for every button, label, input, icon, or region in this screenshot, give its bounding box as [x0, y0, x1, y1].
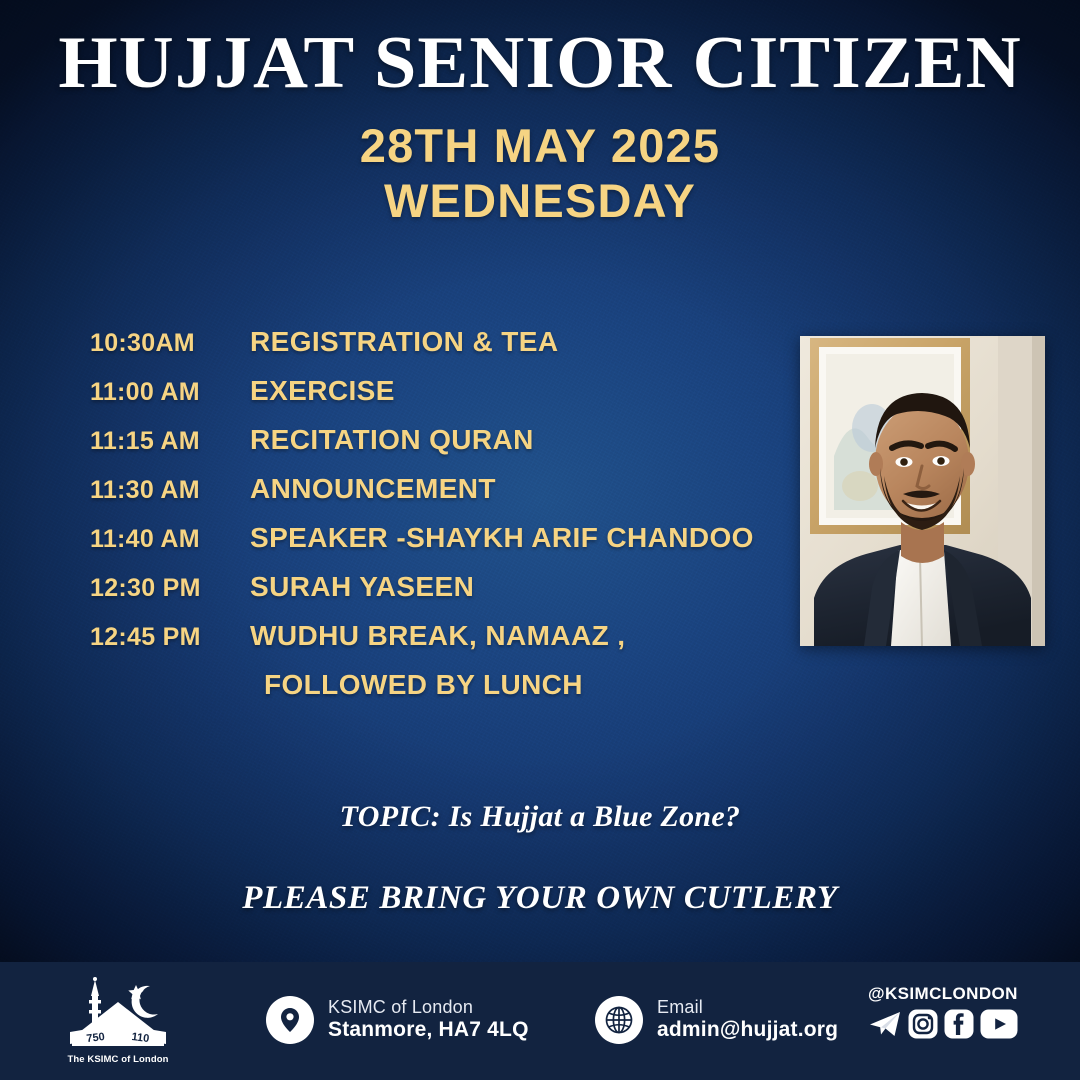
schedule-item: RECITATION QURAN: [250, 424, 534, 456]
facebook-icon[interactable]: [944, 1009, 974, 1039]
schedule-row: 11:00 AM EXERCISE: [90, 375, 820, 424]
ksimc-logo: 750 110 The KSIMC of London: [62, 974, 174, 1070]
logo-caption: The KSIMC of London: [67, 1054, 168, 1065]
poster-footer: 750 110 The KSIMC of London KSIMC of Lon…: [0, 962, 1080, 1080]
schedule-row: 11:30 AM ANNOUNCEMENT: [90, 473, 820, 522]
schedule-row: 10:30AM REGISTRATION & TEA: [90, 326, 820, 375]
event-date: 28TH MAY 2025: [0, 118, 1080, 173]
schedule-row: 11:40 AM SPEAKER -SHAYKH ARIF CHANDOO: [90, 522, 820, 571]
schedule-row: FOLLOWED BY LUNCH: [90, 669, 820, 718]
email-label: Email: [657, 997, 838, 1018]
schedule-item: ANNOUNCEMENT: [250, 473, 496, 505]
event-date-block: 28TH MAY 2025 WEDNESDAY: [0, 118, 1080, 229]
event-weekday: WEDNESDAY: [0, 173, 1080, 228]
schedule-time: 12:45 PM: [90, 623, 250, 652]
schedule-item: WUDHU BREAK, NAMAAZ ,: [250, 620, 625, 652]
schedule-time: 11:30 AM: [90, 476, 250, 505]
schedule-item: REGISTRATION & TEA: [250, 326, 558, 358]
schedule-item: SURAH YASEEN: [250, 571, 474, 603]
schedule-row: 12:45 PM WUDHU BREAK, NAMAAZ ,: [90, 620, 820, 669]
logo-banner-left: 750: [86, 1031, 106, 1045]
schedule-list: 10:30AM REGISTRATION & TEA 11:00 AM EXER…: [90, 326, 820, 718]
email-address[interactable]: admin@hujjat.org: [657, 1018, 838, 1043]
globe-icon: [595, 996, 643, 1044]
instagram-icon[interactable]: [908, 1009, 938, 1039]
schedule-time: 12:30 PM: [90, 574, 250, 603]
topic-line: TOPIC: Is Hujjat a Blue Zone?: [0, 800, 1080, 834]
schedule-time: 10:30AM: [90, 329, 250, 358]
location-line1: KSIMC of London: [328, 997, 529, 1018]
social-icon-row: [868, 1009, 1048, 1039]
logo-banner-right: 110: [131, 1031, 150, 1045]
schedule-time: 11:40 AM: [90, 525, 250, 554]
mosque-crescent-icon: 750 110: [66, 974, 170, 1052]
map-pin-icon: [266, 996, 314, 1044]
schedule-time: 11:15 AM: [90, 427, 250, 456]
schedule-item: SPEAKER -SHAYKH ARIF CHANDOO: [250, 522, 754, 554]
poster-title: HUJJAT SENIOR CITIZEN: [0, 26, 1080, 100]
location-line2: Stanmore, HA7 4LQ: [328, 1018, 529, 1043]
cutlery-notice: PLEASE BRING YOUR OWN CUTLERY: [0, 880, 1080, 917]
schedule-time: 11:00 AM: [90, 378, 250, 407]
telegram-icon[interactable]: [868, 1009, 902, 1039]
schedule-row: 11:15 AM RECITATION QURAN: [90, 424, 820, 473]
schedule-row: 12:30 PM SURAH YASEEN: [90, 571, 820, 620]
schedule-item: FOLLOWED BY LUNCH: [250, 669, 583, 701]
speaker-photo: [800, 336, 1045, 646]
footer-location: KSIMC of London Stanmore, HA7 4LQ: [266, 996, 529, 1044]
schedule-item: EXERCISE: [250, 375, 395, 407]
footer-email: Email admin@hujjat.org: [595, 996, 838, 1044]
footer-social: @KSIMCLONDON: [868, 984, 1048, 1039]
event-poster: HUJJAT SENIOR CITIZEN 28TH MAY 2025 WEDN…: [0, 0, 1080, 1080]
social-handle: @KSIMCLONDON: [868, 984, 1048, 1004]
youtube-icon[interactable]: [980, 1009, 1018, 1039]
